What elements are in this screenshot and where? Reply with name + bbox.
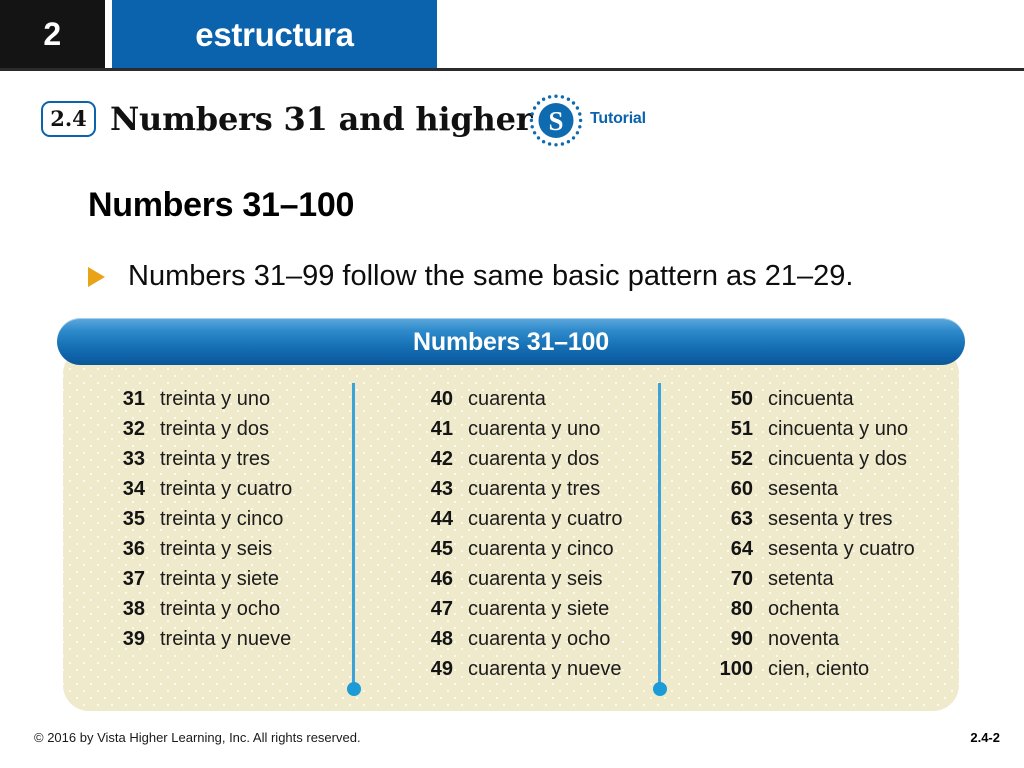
footer-page-number: 2.4-2 (970, 730, 1000, 745)
section-heading-row: 2.4 Numbers 31 and higher (0, 95, 1024, 153)
number-word: cuarenta y cinco (468, 534, 614, 564)
number-row: 34treinta y cuatro (99, 474, 369, 504)
number-word: ochenta (768, 594, 839, 624)
number-row: 90noventa (707, 624, 967, 654)
number-row: 42cuarenta y dos (407, 444, 687, 474)
number-row: 33treinta y tres (99, 444, 369, 474)
number-value: 70 (707, 564, 753, 594)
number-row: 31treinta y uno (99, 384, 369, 414)
number-word: cuarenta y siete (468, 594, 609, 624)
number-value: 36 (99, 534, 145, 564)
number-word: treinta y dos (160, 414, 269, 444)
number-word: cuarenta y ocho (468, 624, 610, 654)
number-word: cuarenta y nueve (468, 654, 621, 684)
number-word: treinta y cinco (160, 504, 283, 534)
number-row: 43cuarenta y tres (407, 474, 687, 504)
number-word: cuarenta y tres (468, 474, 600, 504)
number-row: 51cincuenta y uno (707, 414, 967, 444)
number-row: 47cuarenta y siete (407, 594, 687, 624)
numbers-column-2: 40cuarenta41cuarenta y uno42cuarenta y d… (407, 384, 687, 684)
banner-divider-rule (0, 68, 1024, 71)
number-value: 47 (407, 594, 453, 624)
number-word: cuarenta y cuatro (468, 504, 623, 534)
page-title: Numbers 31–100 (88, 186, 354, 225)
number-value: 48 (407, 624, 453, 654)
number-row: 48cuarenta y ocho (407, 624, 687, 654)
svg-text:S: S (548, 106, 563, 136)
number-value: 33 (99, 444, 145, 474)
triangle-bullet-icon (88, 267, 105, 287)
number-word: cincuenta (768, 384, 854, 414)
number-word: treinta y ocho (160, 594, 280, 624)
numbers-column-3: 50cincuenta51cincuenta y uno52cincuenta … (707, 384, 967, 684)
number-row: 80ochenta (707, 594, 967, 624)
number-value: 49 (407, 654, 453, 684)
number-word: cincuenta y uno (768, 414, 908, 444)
number-value: 37 (99, 564, 145, 594)
number-row: 39treinta y nueve (99, 624, 369, 654)
number-row: 46cuarenta y seis (407, 564, 687, 594)
number-row: 64sesenta y cuatro (707, 534, 967, 564)
number-value: 41 (407, 414, 453, 444)
numbers-panel-header: Numbers 31–100 (57, 318, 965, 365)
number-value: 63 (707, 504, 753, 534)
number-value: 60 (707, 474, 753, 504)
number-value: 44 (407, 504, 453, 534)
tutorial-link[interactable]: S Tutorial (528, 93, 678, 151)
number-word: noventa (768, 624, 839, 654)
supersite-tutorial-icon: S (528, 93, 584, 149)
number-value: 34 (99, 474, 145, 504)
number-value: 90 (707, 624, 753, 654)
number-value: 31 (99, 384, 145, 414)
number-word: cincuenta y dos (768, 444, 907, 474)
number-row: 44cuarenta y cuatro (407, 504, 687, 534)
number-row: 60sesenta (707, 474, 967, 504)
number-word: treinta y nueve (160, 624, 291, 654)
number-row: 100cien, ciento (707, 654, 967, 684)
number-row: 45cuarenta y cinco (407, 534, 687, 564)
number-word: setenta (768, 564, 834, 594)
number-word: treinta y tres (160, 444, 270, 474)
chapter-number: 2 (0, 0, 105, 68)
number-row: 41cuarenta y uno (407, 414, 687, 444)
number-value: 64 (707, 534, 753, 564)
section-name-label: estructura (112, 0, 437, 68)
number-value: 45 (407, 534, 453, 564)
number-value: 52 (707, 444, 753, 474)
number-row: 32treinta y dos (99, 414, 369, 444)
number-value: 50 (707, 384, 753, 414)
number-row: 37treinta y siete (99, 564, 369, 594)
number-value: 51 (707, 414, 753, 444)
number-value: 40 (407, 384, 453, 414)
number-word: treinta y siete (160, 564, 279, 594)
numbers-panel-title: Numbers 31–100 (57, 318, 965, 365)
top-banner: 2 estructura (0, 0, 1024, 68)
number-row: 63sesenta y tres (707, 504, 967, 534)
number-word: sesenta y tres (768, 504, 893, 534)
number-word: cien, ciento (768, 654, 869, 684)
chapter-block: 2 (0, 0, 105, 68)
number-row: 70setenta (707, 564, 967, 594)
number-word: treinta y uno (160, 384, 270, 414)
footer-copyright: © 2016 by Vista Higher Learning, Inc. Al… (34, 730, 361, 745)
numbers-panel: Numbers 31–100 31treinta y uno32treinta … (57, 318, 965, 711)
number-row: 52cincuenta y dos (707, 444, 967, 474)
number-row: 35treinta y cinco (99, 504, 369, 534)
number-word: cuarenta y seis (468, 564, 603, 594)
number-value: 42 (407, 444, 453, 474)
section-heading-title: Numbers 31 and higher (110, 95, 532, 143)
number-value: 46 (407, 564, 453, 594)
number-row: 38treinta y ocho (99, 594, 369, 624)
number-row: 40cuarenta (407, 384, 687, 414)
number-word: sesenta (768, 474, 838, 504)
number-word: cuarenta (468, 384, 546, 414)
number-value: 100 (707, 654, 753, 684)
number-word: treinta y seis (160, 534, 272, 564)
number-value: 80 (707, 594, 753, 624)
number-row: 36treinta y seis (99, 534, 369, 564)
section-number-badge: 2.4 (41, 101, 96, 137)
number-word: cuarenta y dos (468, 444, 599, 474)
section-name-block: estructura (112, 0, 437, 68)
bullet-text: Numbers 31–99 follow the same basic patt… (128, 256, 853, 296)
number-value: 32 (99, 414, 145, 444)
number-word: treinta y cuatro (160, 474, 292, 504)
number-value: 35 (99, 504, 145, 534)
number-row: 49cuarenta y nueve (407, 654, 687, 684)
numbers-column-1: 31treinta y uno32treinta y dos33treinta … (99, 384, 369, 654)
number-word: cuarenta y uno (468, 414, 600, 444)
tutorial-label: Tutorial (590, 110, 646, 128)
number-row: 50cincuenta (707, 384, 967, 414)
bullet-row: Numbers 31–99 follow the same basic patt… (88, 256, 1008, 300)
number-value: 43 (407, 474, 453, 504)
number-value: 39 (99, 624, 145, 654)
number-word: sesenta y cuatro (768, 534, 915, 564)
number-value: 38 (99, 594, 145, 624)
